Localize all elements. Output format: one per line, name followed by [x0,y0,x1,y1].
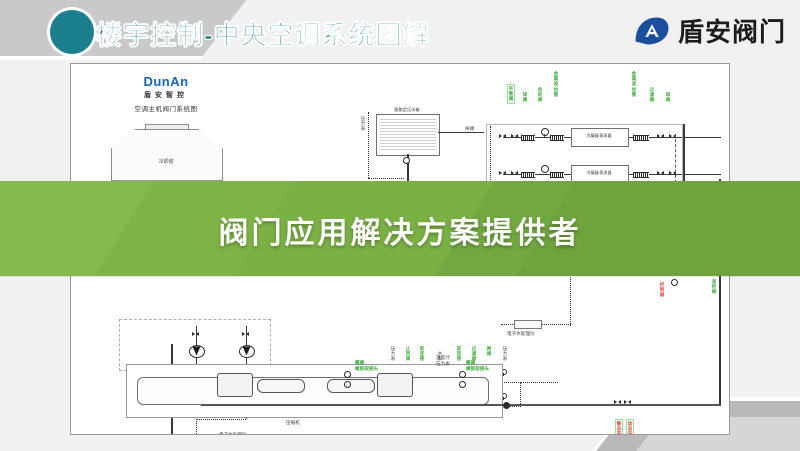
top-loop-dot-left [490,126,491,186]
label-balance-valve: 平衡阀 [508,85,514,103]
return-main-pipe [201,404,721,406]
diagram-logo: DunAn 盾安智控 空调主机阀门系统图 [106,74,226,113]
tank-control-line [368,112,369,178]
label-pressure-b: 压力表 [436,361,450,366]
compressor-b [377,373,413,397]
label-rubber-joint-b1: 橡胶软接头 [355,366,378,371]
diagram-logo-sub: 盾安智控 [106,90,226,100]
compressor-label: 压缩机 [286,420,300,425]
chiller-in-valve-b [344,381,351,388]
chiller-shell [137,377,489,405]
dynamic-balance-valve-icon [624,400,631,405]
label-thermometer-b: 温度计 [436,355,450,360]
water-treatment-right-label: 电子水处理仪 [507,331,535,336]
chiller-unit [126,364,503,418]
chiller-cylinder-b [327,379,375,393]
banner-headline: 阀门应用解决方案提供者 [0,208,800,252]
label-ball-valve-2: 球阀 [665,92,671,102]
chiller-in-valve-a [344,371,351,378]
page-title: 楼宇控制-中央空调系统图解 [96,15,430,52]
label-flex-joint-2: 软连接 [456,346,462,362]
label-butterfly-b2: 蝶阀 [466,360,475,365]
label-static-balance-valve: 静态平衡阀 [616,420,622,435]
water-treatment-left-label: 电子水处理仪 [219,432,247,435]
label-metal-bellows-2: 金属波纹管 [631,71,637,97]
chiller-out-valve-b [459,381,466,388]
diagram-logo-main: DunAn [106,74,226,89]
tank-fill-lines [380,119,436,152]
diagram-logo-caption: 空调主机阀门系统图 [106,103,226,113]
label-metal-bellows-1: 金属波纹管 [553,71,559,97]
chiller-cylinder-a [257,379,305,393]
label-temp-control-valve: 温控阀 [711,279,717,295]
left-crossover [196,419,246,420]
controller-node [671,279,678,286]
tower-body [111,129,223,181]
tank-control-line [368,178,404,179]
label-controller: 控制器 [659,282,665,298]
dunan-a-logo-icon [634,16,670,46]
label-electric-valve: 电动阀 [537,87,543,103]
tank-pipe-label: 闸阀 [465,126,474,131]
label-pressure-gauge-1: 压力表 [390,346,396,362]
label-strainer-1: 过滤器 [649,87,655,103]
chiller-out-valve-a [459,371,466,378]
label-dynamic-balance-valve: 动态平衡阀 [627,420,633,435]
title-bullet-icon [50,10,94,54]
label-rubber-joint-b2: 橡胶软接头 [466,366,489,371]
slide-header: 楼宇控制-中央空调系统图解 盾安阀门 [0,0,800,62]
brand-name: 盾安阀门 [678,12,786,49]
compressor-a [217,373,253,397]
label-pressure-gauge-2: 压力表 [502,346,508,362]
label-gate-valve-mid: 闸阀 [486,346,492,356]
water-treatment-right [514,320,542,329]
label-ball-valve-1: 球阀 [522,92,528,102]
tank-outlet-pipe [438,132,484,133]
expansion-tank-label: 膨胀定压水箱 [376,107,438,113]
top-loop-frame [486,124,683,182]
expansion-tank [376,114,440,156]
pump-bus-right [520,382,521,406]
green-banner: 阀门应用解决方案提供者 [0,181,800,276]
label-butterfly-b1: 蝶阀 [355,360,364,365]
slide-canvas: 楼宇控制-中央空调系统图解 盾安阀门 DunAn 盾安智控 空调主机阀门系统图 … [0,0,800,451]
tank-side-label: 压力表 [360,116,366,132]
tower-label: 冷却塔 [111,158,221,165]
tank-valve-icon [403,157,410,164]
label-check-valve: 止回阀 [405,346,411,362]
static-balance-valve-icon [614,400,621,405]
brand-lockup: 盾安阀门 [634,12,786,49]
label-flex-joint-1: 软连接 [419,346,425,362]
return-main-node [503,402,510,409]
pump-to-right-line [520,382,558,383]
